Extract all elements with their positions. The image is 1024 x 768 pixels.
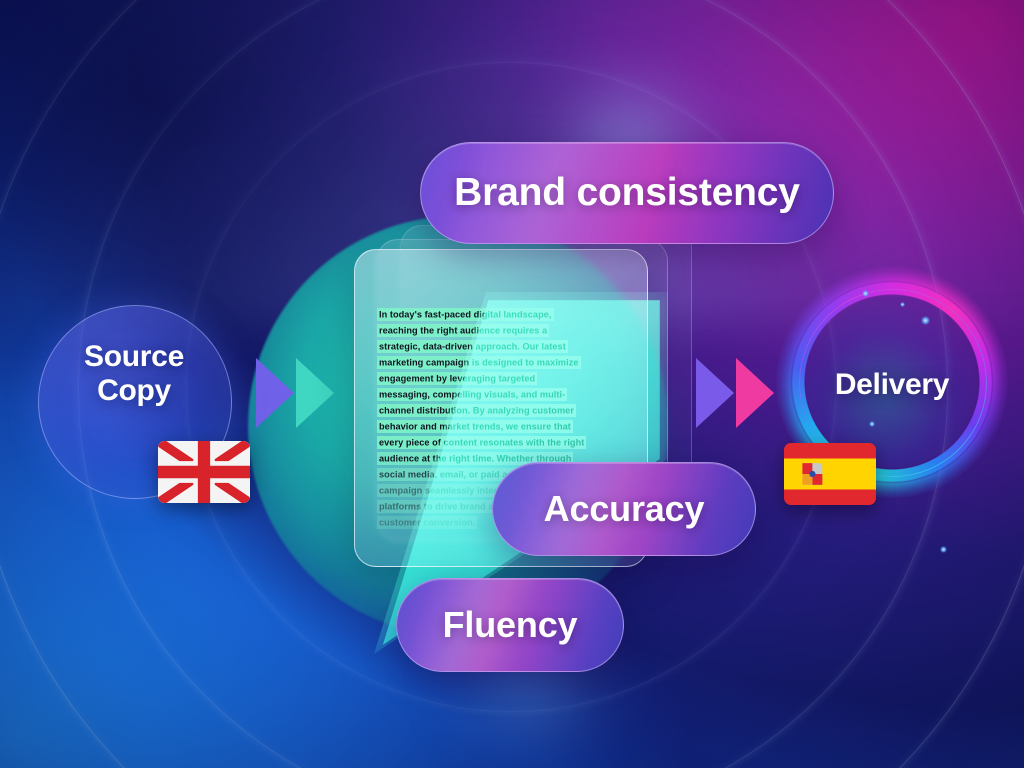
pill-accuracy[interactable]: Accuracy xyxy=(492,462,756,556)
spain-flag-icon xyxy=(784,443,876,505)
illustration-canvas: In today's fast-paced digital landscape,… xyxy=(0,0,1024,768)
arrow-process-to-delivery xyxy=(696,358,774,428)
double-chevron-right-icon xyxy=(736,358,774,428)
pill-fluency[interactable]: Fluency xyxy=(396,578,624,672)
source-copy-label-line1: Source xyxy=(38,340,230,374)
sparkle-dot xyxy=(869,421,875,427)
double-chevron-right-icon xyxy=(696,358,734,428)
sparkle-dot xyxy=(940,546,947,553)
pill-accuracy-label: Accuracy xyxy=(544,488,705,530)
sparkle-dot xyxy=(921,316,930,325)
pill-brand-consistency[interactable]: Brand consistency xyxy=(420,142,834,244)
source-copy-label-line2: Copy xyxy=(38,374,230,408)
double-chevron-right-icon xyxy=(256,358,294,428)
source-copy-label: Source Copy xyxy=(38,340,230,407)
pill-fluency-label: Fluency xyxy=(443,604,578,646)
sparkle-dot xyxy=(900,302,905,307)
delivery-label: Delivery xyxy=(792,368,992,402)
united-kingdom-flag-icon xyxy=(158,441,250,503)
sparkle-dot xyxy=(862,290,869,297)
double-chevron-right-icon xyxy=(296,358,334,428)
arrow-source-to-process xyxy=(256,358,334,428)
pill-brand-consistency-label: Brand consistency xyxy=(454,171,800,215)
